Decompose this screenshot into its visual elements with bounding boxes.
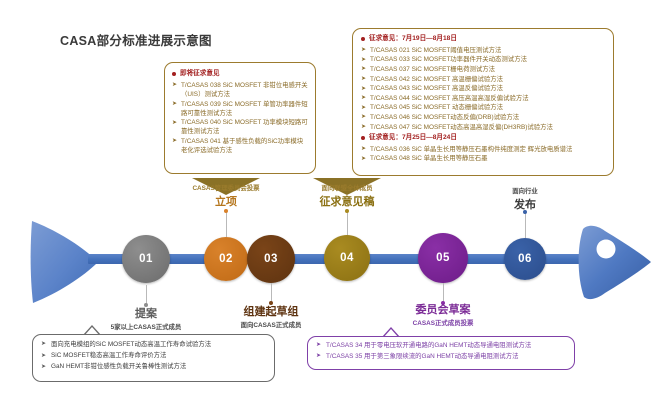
arrow-bullet-icon: ➤	[172, 137, 177, 146]
leader-line-05	[443, 283, 444, 303]
arrow-bullet-icon: ➤	[316, 341, 321, 350]
arrow-bullet-icon: ➤	[361, 56, 366, 65]
callout-soliciting-item: ➤ T/CASAS 021 SiC MOSFET阈值电压测试方法	[361, 46, 607, 55]
bullet-dot-icon	[172, 72, 176, 76]
callout-soliciting-comments: 征求意见：7月19日—8月18日 ➤ T/CASAS 021 SiC MOSFE…	[352, 28, 614, 176]
arrow-bullet-icon: ➤	[361, 155, 366, 164]
step-title-04: 征求意见稿	[302, 193, 392, 209]
callout-upcoming-item: ➤ T/CASAS 040 SiC MOSFET 功率模块短路可靠性测试方法	[172, 118, 309, 136]
leader-line-01	[146, 285, 147, 305]
callout-proposal-item: ➤ GaN HEMT非钳位感性负载开关鲁棒性测试方法	[41, 362, 269, 372]
timeline-node-03[interactable]: 03	[247, 235, 295, 283]
callout-soliciting-heading-1: 征求意见：7月19日—8月18日	[361, 35, 607, 44]
bullet-dot-icon	[361, 37, 365, 41]
callout-proposal-item: ➤ 面向充电模组的SiC MOSFET动态高温工作寿命试验方法	[41, 340, 269, 350]
callout-soliciting-item: ➤ T/CASAS 048 SiC 单晶生长用等静压石墨	[361, 154, 607, 163]
arrow-bullet-icon: ➤	[172, 100, 177, 109]
callout-soliciting-item: ➤ T/CASAS 043 SiC MOSFET 高温反偏试验方法	[361, 84, 607, 93]
leader-line-06	[525, 211, 526, 238]
callout-committee-draft-list: ➤ T/CASAS 34 用于零电压软开通电路的GaN HEMT动态导通电阻测试…	[307, 336, 575, 370]
callout-proposal-item: ➤ SiC MOSFET稳态高温工作寿命评价方法	[41, 351, 269, 361]
arrow-bullet-icon: ➤	[172, 119, 177, 128]
arrow-bullet-icon: ➤	[361, 46, 366, 55]
step-title-05: 委员会草案	[398, 301, 488, 317]
leader-dot-04	[345, 209, 349, 213]
callout-proposal-list: ➤ 面向充电模组的SiC MOSFET动态高温工作寿命试验方法 ➤ SiC MO…	[32, 334, 275, 382]
timeline-node-05[interactable]: 05	[418, 233, 468, 283]
callout-soliciting-item: ➤ T/CASAS 036 SiC 单晶生长用等静压石墨构件纯度测定 辉光放电质…	[361, 145, 607, 154]
callout-upcoming-item: ➤ T/CASAS 041 基于感性负载的SiC功率模块老化评选试验方法	[172, 137, 309, 155]
arrow-bullet-icon: ➤	[361, 65, 366, 74]
step-subtitle-06: 面向行业	[486, 186, 564, 195]
arrow-bullet-icon: ➤	[361, 104, 366, 113]
page-title: CASA部分标准进展示意图	[60, 30, 212, 49]
timeline-node-02[interactable]: 02	[204, 237, 248, 281]
callout-upcoming-item: ➤ T/CASAS 038 SiC MOSFET 非钳位电感开关（UIS）测试方…	[172, 81, 309, 99]
step-subtitle-02: CASAS管理委员会投票	[166, 183, 286, 192]
callout-soliciting-item: ➤ T/CASAS 044 SiC MOSFET 高压高温高湿反偏试验方法	[361, 94, 607, 103]
arrow-bullet-icon: ➤	[172, 81, 177, 90]
callout-committee-draft-item: ➤ T/CASAS 35 用于第三象限续流的GaN HEMT动态导通电阻测试方法	[316, 352, 569, 362]
arrow-bullet-icon: ➤	[361, 145, 366, 154]
callout-soliciting-heading-2: 征求意见：7月25日—8月24日	[361, 134, 607, 143]
arrow-bullet-icon: ➤	[41, 340, 46, 349]
step-subtitle-05: CASAS正式成员投票	[396, 318, 490, 327]
leader-line-04	[347, 210, 348, 235]
slide-canvas: CASA部分标准进展示意图	[0, 0, 668, 401]
step-subtitle-04: 面向联盟全体成员	[297, 183, 397, 192]
arrow-bullet-icon: ➤	[41, 363, 46, 372]
callout-soliciting-item: ➤ T/CASAS 037 SiC MOSFET栅电荷测试方法	[361, 65, 607, 74]
callout-soliciting-item: ➤ T/CASAS 045 SiC MOSFET 动态栅偏试验方法	[361, 103, 607, 112]
callout-soliciting-item: ➤ T/CASAS 046 SiC MOSFET动态反偏(DRB)试验方法	[361, 113, 607, 122]
arrow-bullet-icon: ➤	[361, 94, 366, 103]
callout-committee-draft-item: ➤ T/CASAS 34 用于零电压软开通电路的GaN HEMT动态导通电阻测试…	[316, 341, 569, 351]
bullet-dot-icon	[361, 136, 365, 140]
arrow-bullet-icon: ➤	[361, 113, 366, 122]
step-title-06: 发布	[499, 196, 551, 212]
step-subtitle-03: 面向CASAS正式成员	[226, 320, 316, 329]
step-title-02: 立项	[200, 193, 252, 209]
step-subtitle-01: 5家以上CASAS正式成员	[86, 322, 206, 331]
arrow-bullet-icon: ➤	[361, 123, 366, 132]
leader-line-03	[271, 283, 272, 303]
step-title-03: 组建起草组	[226, 303, 316, 319]
callout-soliciting-item: ➤ T/CASAS 033 SiC MOSFET功率器件开关动态测试方法	[361, 55, 607, 64]
timeline-node-01[interactable]: 01	[122, 235, 170, 283]
step-title-01: 提案	[120, 305, 172, 321]
timeline-node-04[interactable]: 04	[324, 235, 370, 281]
callout-soliciting-item: ➤ T/CASAS 047 SiC MOSFET动态高温高湿反偏(DH3RB)试…	[361, 123, 607, 132]
arrow-bullet-icon: ➤	[361, 85, 366, 94]
leader-dot-02	[224, 209, 228, 213]
callout-upcoming-item: ➤ T/CASAS 039 SiC MOSFET 单管功率器件短路可靠性测试方法	[172, 100, 309, 118]
callout-upcoming-solicitation: 即将征求意见 ➤ T/CASAS 038 SiC MOSFET 非钳位电感开关（…	[164, 62, 316, 174]
arrow-bullet-icon: ➤	[361, 75, 366, 84]
arrow-bullet-icon: ➤	[41, 352, 46, 361]
arrow-bullet-icon: ➤	[316, 352, 321, 361]
timeline-arrowhead-shape	[575, 221, 653, 303]
callout-soliciting-item: ➤ T/CASAS 042 SiC MOSFET 高温栅偏试验方法	[361, 75, 607, 84]
timeline-node-06[interactable]: 06	[504, 238, 546, 280]
callout-upcoming-heading: 即将征求意见	[172, 70, 309, 79]
leader-line-02	[226, 210, 227, 237]
